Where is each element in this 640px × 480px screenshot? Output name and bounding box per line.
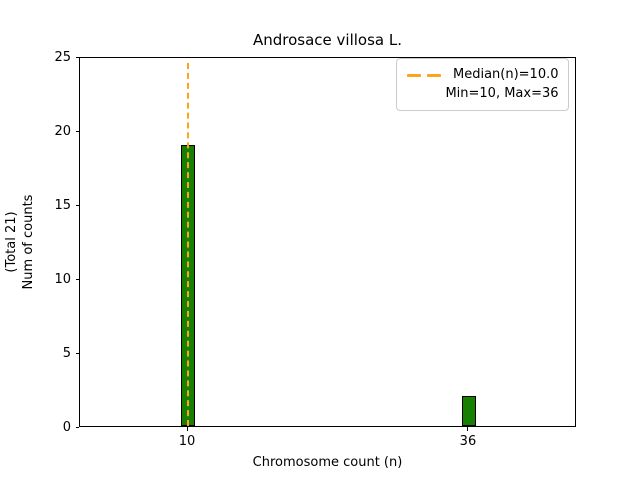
legend-item-minmax: Min=10, Max=36	[406, 84, 559, 103]
x-axis-label: Chromosome count (n)	[79, 455, 576, 470]
median-line-layer	[80, 58, 575, 426]
legend-item-median: Median(n)=10.0	[406, 65, 559, 84]
y-tick-label: 10	[33, 273, 71, 286]
matplotlib-figure: Androsace villosa L. (Total 21) Num of c…	[0, 0, 640, 480]
legend-item-median-label: Median(n)=10.0	[453, 67, 559, 83]
x-tick-mark	[467, 427, 468, 431]
legend-item-minmax-label: Min=10, Max=36	[445, 86, 558, 102]
x-tick-label: 36	[460, 435, 477, 448]
median-line	[187, 63, 189, 426]
page-title: Androsace villosa L.	[79, 31, 576, 49]
y-tick-label: 20	[33, 125, 71, 138]
y-tick-label: 5	[33, 347, 71, 360]
y-tick-label: 0	[33, 421, 71, 434]
y-tick-label: 15	[33, 199, 71, 212]
y-tick-label: 25	[33, 51, 71, 64]
y-axis-label: (Total 21) Num of counts	[0, 57, 40, 427]
legend: Median(n)=10.0 Min=10, Max=36	[396, 58, 569, 111]
dashed-line-icon	[406, 69, 444, 81]
x-tick-mark	[187, 427, 188, 431]
y-axis-label-line-2: (Total 21)	[3, 195, 20, 290]
plot-area	[79, 57, 576, 427]
x-tick-label: 10	[179, 435, 196, 448]
